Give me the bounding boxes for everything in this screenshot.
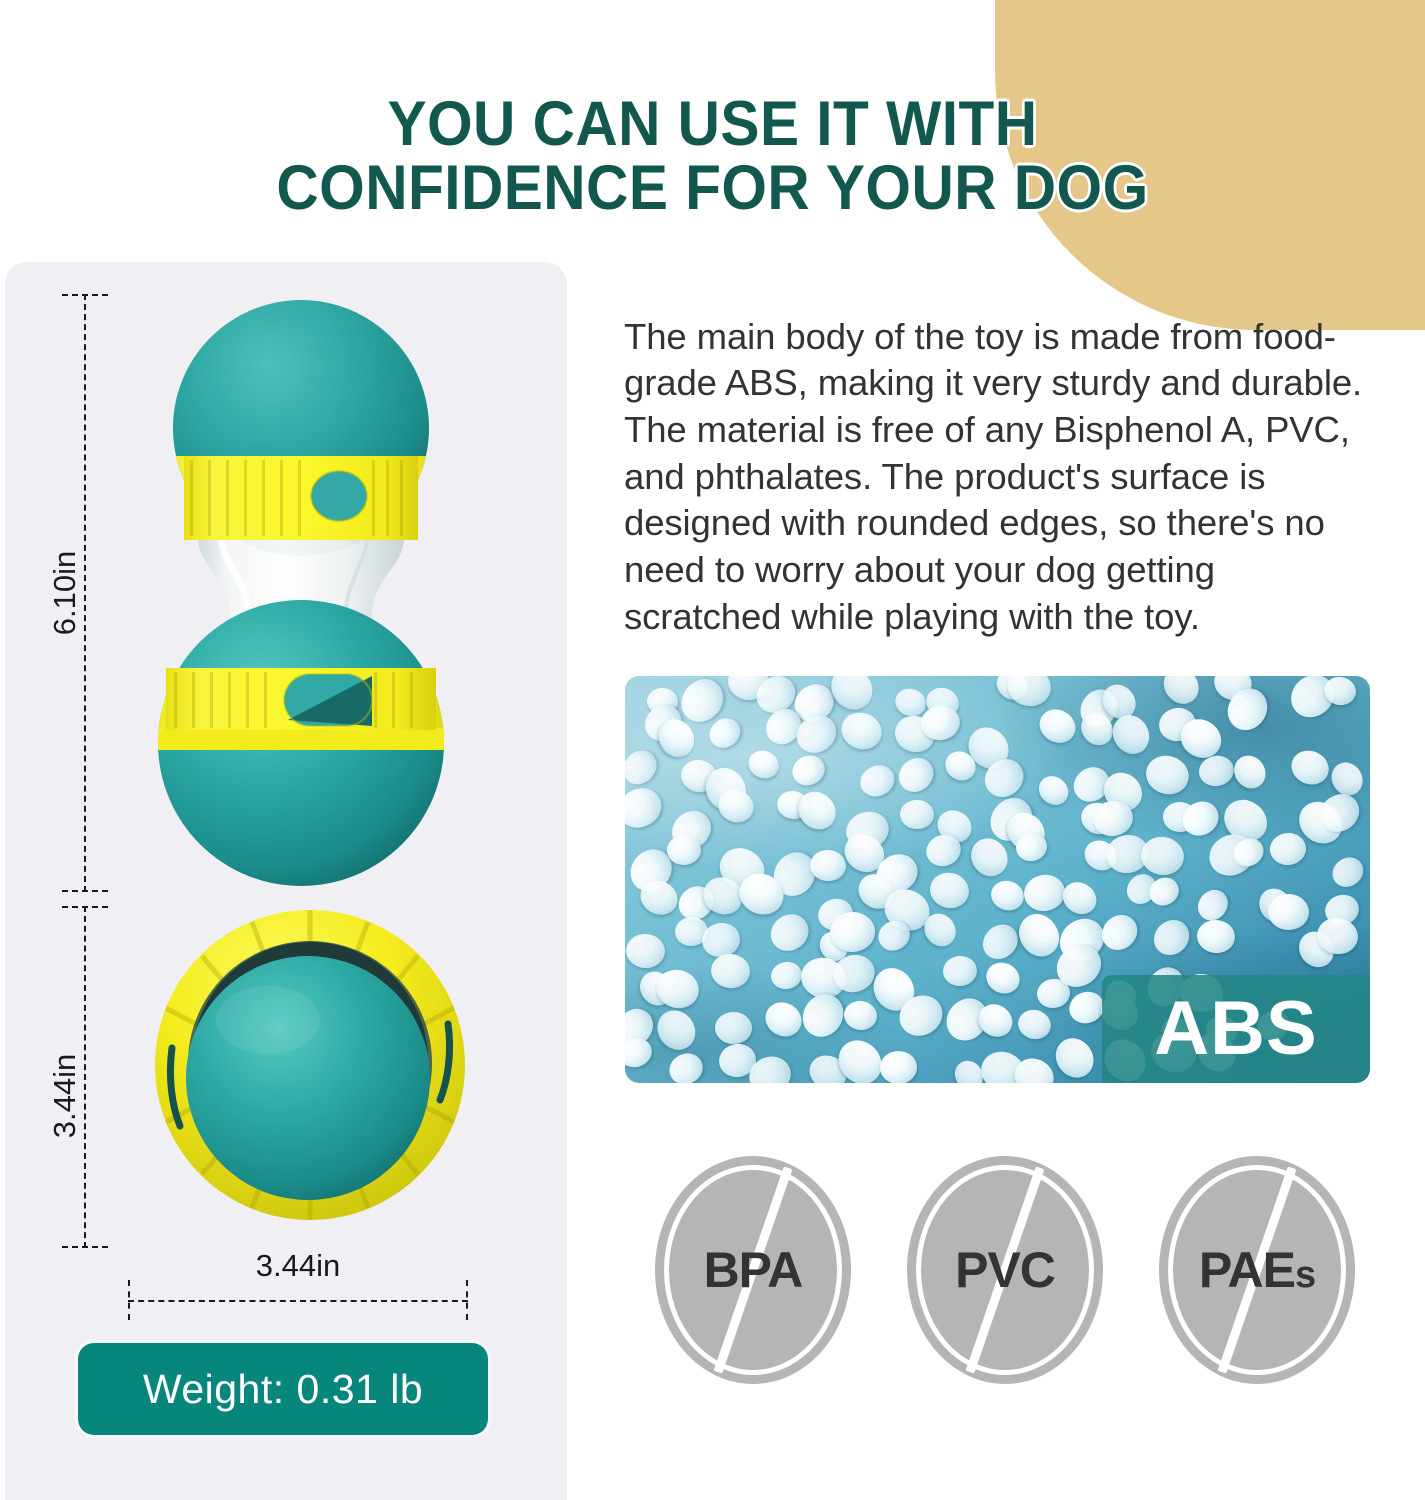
dimension-label-total-height: 6.10in xyxy=(47,538,83,648)
badge-no-pvc: PVC xyxy=(907,1156,1103,1384)
abs-material-tag: ABS xyxy=(1102,975,1370,1083)
badge-no-paes: PAEs xyxy=(1159,1156,1355,1384)
dimension-label-width: 3.44in xyxy=(128,1248,468,1284)
dimension-tick-bottom xyxy=(62,1246,108,1248)
abs-pellet xyxy=(666,834,701,865)
dimension-guide-total-height xyxy=(84,294,86,892)
weight-badge-label: Weight: 0.31 lb xyxy=(143,1366,423,1413)
product-side-view-illustration xyxy=(136,288,466,888)
badge-no-paes-label: PAEs xyxy=(1199,1245,1315,1295)
abs-material-photo: ABS xyxy=(625,676,1370,1083)
dimension-tick-middle-lower xyxy=(62,906,108,908)
dimension-tick-top xyxy=(62,294,108,296)
product-description-paragraph: The main body of the toy is made from fo… xyxy=(624,314,1364,641)
dimension-guide-lower-height xyxy=(84,906,86,1248)
page-title-line-1: YOU CAN USE IT WITH xyxy=(87,92,1338,156)
badge-no-bpa: BPA xyxy=(655,1156,851,1384)
weight-badge: Weight: 0.31 lb xyxy=(78,1343,488,1435)
page-title: YOU CAN USE IT WITH CONFIDENCE FOR YOUR … xyxy=(0,92,1425,221)
badge-no-paes-suffix: s xyxy=(1295,1254,1315,1296)
badge-no-paes-base: PAE xyxy=(1199,1242,1295,1298)
dimension-label-lower-height: 3.44in xyxy=(47,1041,83,1151)
badge-no-bpa-label: BPA xyxy=(704,1245,803,1295)
free-from-badge-group: BPA PVC PAEs xyxy=(655,1155,1355,1385)
abs-pellet xyxy=(879,1050,918,1083)
product-top-view-illustration xyxy=(140,900,480,1230)
badge-no-pvc-label: PVC xyxy=(955,1245,1055,1295)
dimension-tick-width-left xyxy=(128,1280,130,1320)
dimension-guide-width xyxy=(128,1300,468,1302)
page-title-line-2: CONFIDENCE FOR YOUR DOG xyxy=(87,156,1338,220)
dimension-tick-width-right xyxy=(466,1280,468,1320)
abs-material-tag-label: ABS xyxy=(1154,991,1317,1067)
dimension-tick-middle-upper xyxy=(62,890,108,892)
